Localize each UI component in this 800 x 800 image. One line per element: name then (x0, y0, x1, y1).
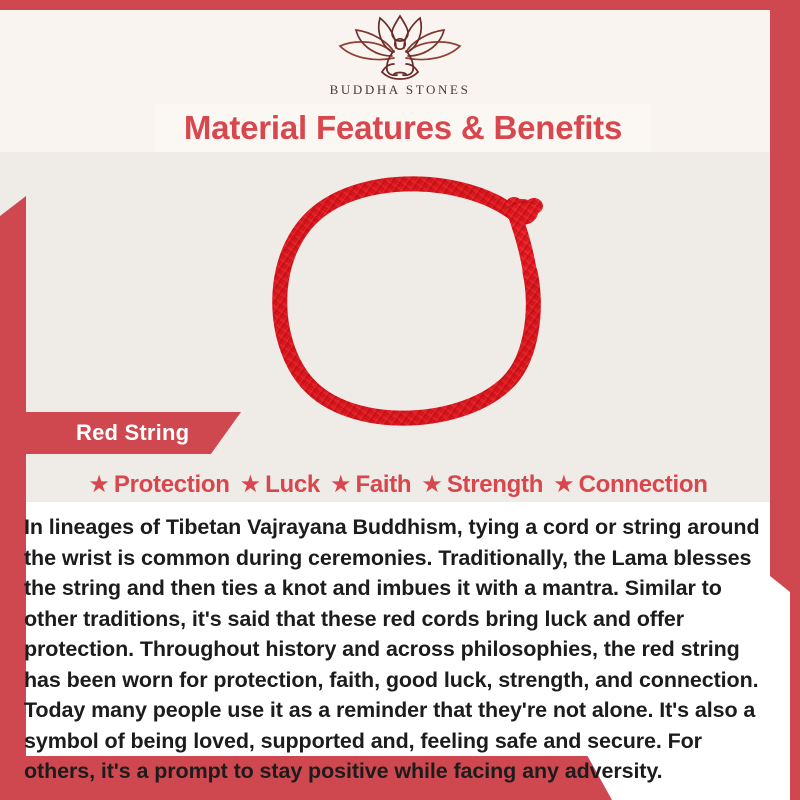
feature-item-protection: ★ Protection (88, 471, 229, 499)
feature-label: Strength (447, 471, 543, 499)
page-title: Material Features & Benefits (184, 109, 622, 147)
product-name-ribbon: Red String (26, 412, 241, 454)
frame-top-edge (0, 0, 800, 10)
star-icon: ★ (553, 473, 575, 497)
feature-list: ★ Protection ★ Luck ★ Faith ★ Strength ★… (18, 466, 778, 504)
feature-label: Faith (355, 471, 411, 499)
feature-label: Luck (265, 471, 320, 499)
brand-logo: BUDDHA STONES (0, 12, 800, 98)
bracelet-knot (506, 197, 543, 225)
feature-item-faith: ★ Faith (330, 471, 411, 499)
feature-item-strength: ★ Strength (421, 471, 543, 499)
lotus-meditation-icon (334, 12, 466, 80)
feature-label: Protection (114, 471, 230, 499)
brand-name: BUDDHA STONES (0, 82, 800, 98)
star-icon: ★ (421, 473, 443, 497)
star-icon: ★ (330, 473, 352, 497)
description-paragraph: In lineages of Tibetan Vajrayana Buddhis… (24, 512, 772, 787)
star-icon: ★ (240, 473, 262, 497)
star-icon: ★ (88, 473, 110, 497)
feature-item-connection: ★ Connection (553, 471, 708, 499)
title-plate: Material Features & Benefits (155, 104, 651, 152)
feature-label: Connection (579, 471, 708, 499)
infographic-card: BUDDHA STONES Material Features & Benefi… (0, 0, 800, 800)
ribbon-label: Red String (76, 420, 189, 446)
product-image-red-string-bracelet (250, 168, 570, 430)
feature-item-luck: ★ Luck (240, 471, 320, 499)
